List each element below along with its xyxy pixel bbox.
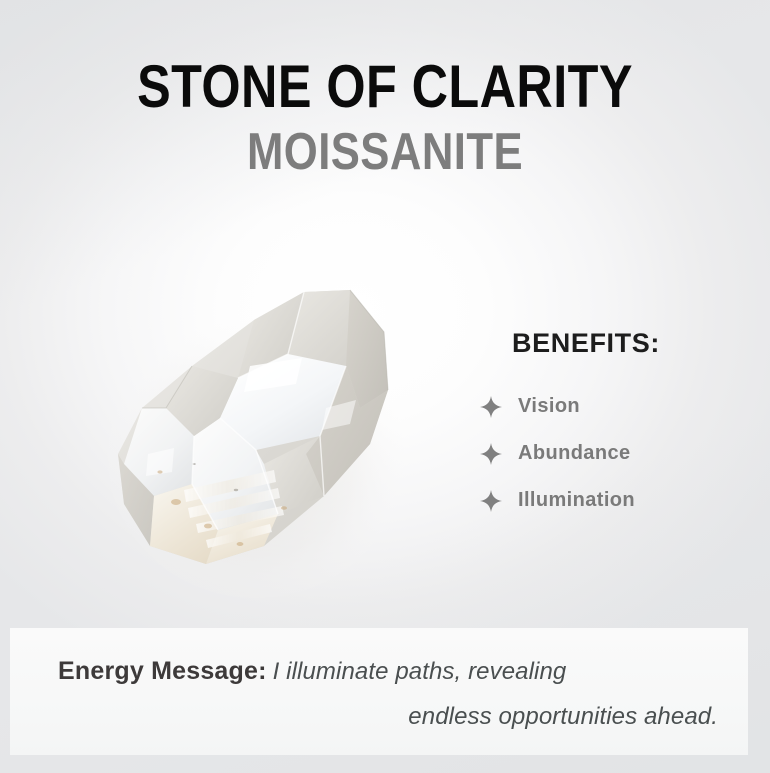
energy-message-text-first: I illuminate paths, revealing [273, 658, 567, 685]
sparkle-icon [480, 490, 502, 512]
benefits-heading: BENEFITS: [452, 328, 752, 359]
energy-message-label: Energy Message: [58, 657, 267, 685]
benefit-label: Abundance [518, 442, 631, 465]
benefit-item-abundance: Abundance [452, 442, 752, 465]
benefit-item-illumination: Illumination [452, 489, 752, 512]
stone-poster: STONE OF CLARITY MOISSANITE [0, 0, 770, 773]
page-subtitle: MOISSANITE [62, 124, 709, 180]
energy-message-content: Energy Message:I illuminate paths, revea… [58, 650, 718, 741]
sparkle-icon [480, 396, 502, 418]
sparkle-icon [480, 443, 502, 465]
benefit-item-vision: Vision [452, 395, 752, 418]
benefit-label: Vision [518, 395, 580, 418]
energy-message-panel: Energy Message:I illuminate paths, revea… [10, 628, 748, 755]
page-title: STONE OF CLARITY [62, 56, 709, 118]
crystal-image [88, 258, 418, 608]
energy-message-line-1: Energy Message:I illuminate paths, revea… [58, 650, 718, 696]
poster-heading-group: STONE OF CLARITY MOISSANITE [0, 56, 770, 180]
energy-message-line-2: endless opportunities ahead. [58, 696, 718, 741]
energy-message-text-second: endless opportunities ahead. [408, 703, 718, 730]
benefit-label: Illumination [518, 489, 635, 512]
benefits-section: BENEFITS: Vision Abundance [452, 328, 752, 536]
